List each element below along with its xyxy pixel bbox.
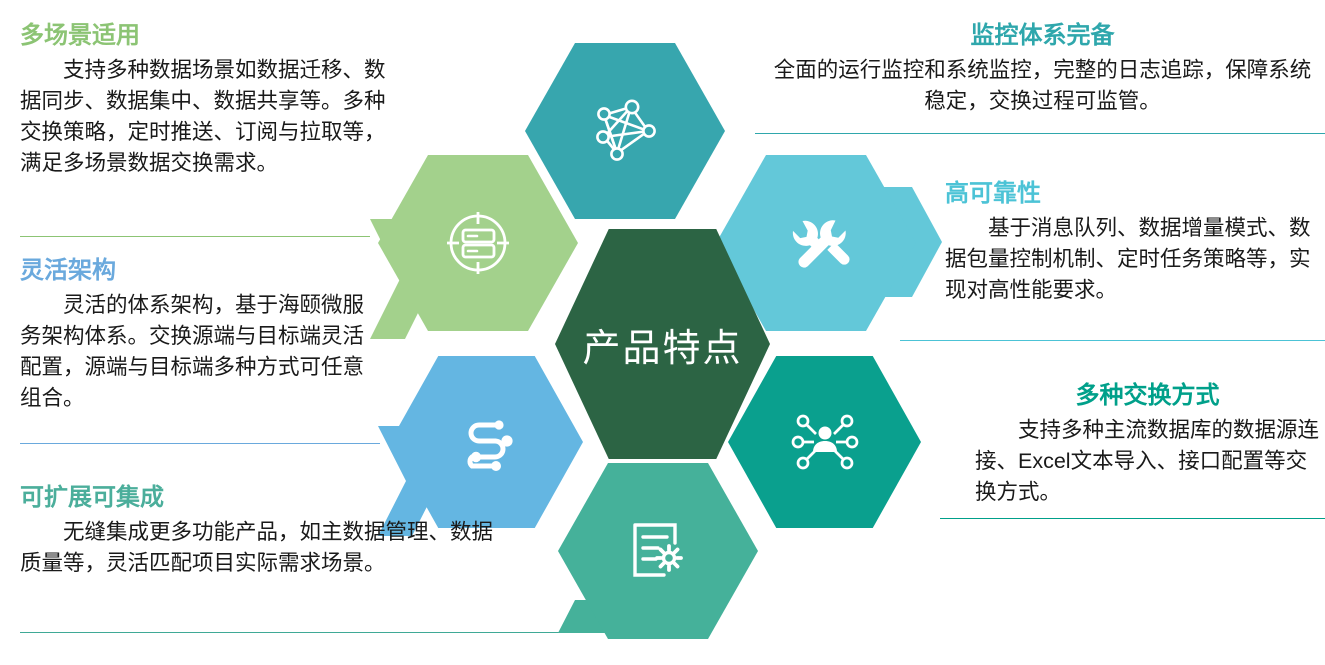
section-multi-scenario: 多场景适用 支持多种数据场景如数据迁移、数据同步、数据集中、数据共享等。多种交换… — [20, 22, 395, 179]
divider-high-reliability — [900, 340, 1325, 341]
tools-icon — [777, 204, 855, 282]
section-title-high-reliability: 高可靠性 — [945, 180, 1320, 209]
section-title-extensible-integration: 可扩展可集成 — [20, 484, 500, 513]
network-graph-icon — [587, 93, 663, 169]
section-monitoring-system: 监控体系完备 全面的运行监控和系统监控，完整的日志追踪，保障系统稳定，交换过程可… — [770, 22, 1315, 117]
section-body-extensible-integration: 无缝集成更多功能产品，如主数据管理、数据质量等，灵活匹配项目实际需求场景。 — [20, 517, 500, 579]
chevron-exchange-methods — [905, 372, 961, 480]
divider-multi-scenario — [20, 236, 370, 237]
hexagon-exchange-methods[interactable] — [728, 356, 921, 528]
section-extensible-integration: 可扩展可集成 无缝集成更多功能产品，如主数据管理、数据质量等，灵活匹配项目实际需… — [20, 484, 500, 579]
section-body-multi-scenario: 支持多种数据场景如数据迁移、数据同步、数据集中、数据共享等。多种交换策略，定时推… — [20, 55, 395, 180]
user-network-icon — [787, 404, 863, 480]
divider-monitoring-system — [755, 133, 1325, 134]
divider-exchange-methods — [940, 518, 1325, 519]
section-high-reliability: 高可靠性 基于消息队列、数据增量模式、数据包量控制机制、定时任务策略等，实现对高… — [945, 180, 1320, 306]
section-body-exchange-methods: 支持多种主流数据库的数据源连接、Excel文本导入、接口配置等交换方式。 — [975, 415, 1320, 509]
section-title-exchange-methods: 多种交换方式 — [975, 382, 1320, 411]
flow-routing-icon — [449, 404, 525, 480]
section-body-flexible-architecture: 灵活的体系架构，基于海颐微服务架构体系。交换源端与目标端灵活配置，源端与目标端多… — [20, 290, 375, 415]
section-exchange-methods: 多种交换方式 支持多种主流数据库的数据源连接、Excel文本导入、接口配置等交换… — [975, 382, 1320, 508]
hexagon-monitoring-system[interactable] — [525, 43, 725, 219]
section-title-flexible-architecture: 灵活架构 — [20, 257, 375, 286]
divider-flexible-architecture — [20, 443, 380, 444]
section-body-high-reliability: 基于消息队列、数据增量模式、数据包量控制机制、定时任务策略等，实现对高性能要求。 — [945, 213, 1320, 307]
divider-extensible-integration — [20, 632, 560, 633]
section-title-monitoring-system: 监控体系完备 — [770, 22, 1315, 51]
database-target-icon — [439, 204, 517, 282]
section-body-monitoring-system: 全面的运行监控和系统监控，完整的日志追踪，保障系统稳定，交换过程可监管。 — [770, 55, 1315, 117]
infographic-canvas: 产品特点 — [0, 0, 1325, 658]
section-title-multi-scenario: 多场景适用 — [20, 22, 395, 51]
section-flexible-architecture: 灵活架构 灵活的体系架构，基于海颐微服务架构体系。交换源端与目标端灵活配置，源端… — [20, 257, 375, 414]
center-label: 产品特点 — [582, 317, 742, 372]
document-gear-icon — [620, 513, 696, 589]
